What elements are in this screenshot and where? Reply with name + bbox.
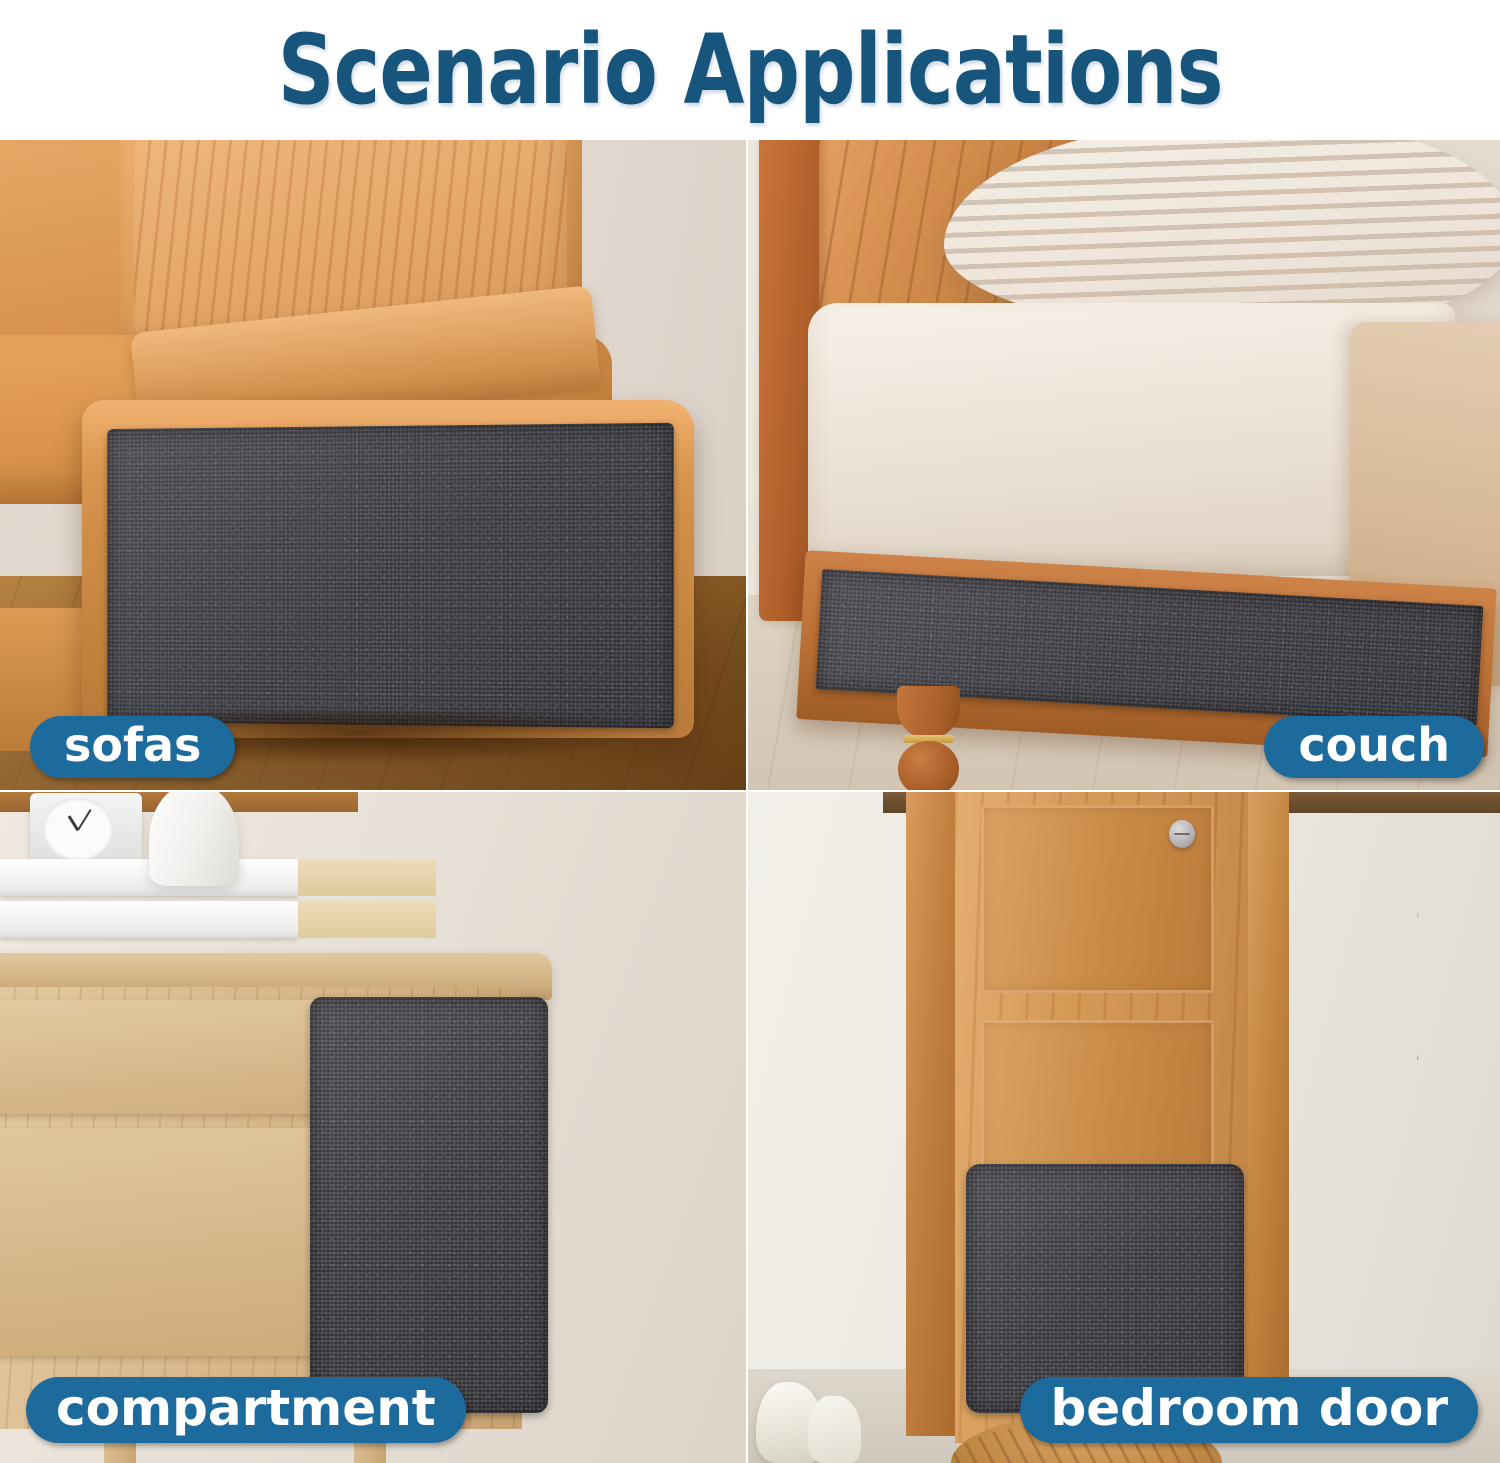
scenario-label-bedroom-door: bedroom door xyxy=(1020,1377,1478,1443)
clock-face xyxy=(43,798,112,861)
scenario-panel-bedroom-door[interactable]: bedroom door xyxy=(748,792,1500,1463)
scenario-label-sofas: sofas xyxy=(30,716,235,778)
door-screw-icon xyxy=(1169,820,1195,848)
scenario-panel-compartment[interactable]: compartment xyxy=(0,792,748,1463)
scenario-label-couch: couch xyxy=(1264,716,1484,778)
page-title-bar: Scenario Applications xyxy=(0,0,1500,140)
page-title: Scenario Applications xyxy=(278,22,1223,118)
scenario-label-sofas-text: sofas xyxy=(64,722,201,768)
clock-minute-hand xyxy=(77,810,91,831)
plant-branch xyxy=(1417,913,1492,1061)
scratch-mat-on-nightstand xyxy=(310,997,549,1413)
scenario-label-compartment: compartment xyxy=(26,1377,466,1443)
scenario-label-couch-text: couch xyxy=(1298,722,1450,768)
striped-pillow xyxy=(944,140,1500,329)
nightstand-drawer-lower xyxy=(0,1128,343,1356)
door-frame-left xyxy=(906,792,959,1436)
scenario-panel-couch[interactable]: couch xyxy=(748,140,1500,792)
scenario-panel-sofas[interactable]: sofas xyxy=(0,140,748,792)
book-pages xyxy=(298,859,435,896)
alarm-clock xyxy=(30,793,142,867)
book-bottom xyxy=(0,901,298,938)
bed-turned-leg xyxy=(891,686,966,792)
bed-leg-upper xyxy=(897,686,960,739)
scratch-mat-on-door xyxy=(966,1164,1244,1412)
nightstand-photo xyxy=(0,792,746,1463)
nightstand-drawer-upper xyxy=(0,1000,343,1114)
door-frame-right xyxy=(1244,792,1289,1443)
scenario-grid: sofas c xyxy=(0,140,1500,1463)
bed-photo xyxy=(748,140,1500,790)
white-vase xyxy=(149,792,239,886)
scenario-label-compartment-text: compartment xyxy=(56,1383,436,1433)
sofa-photo xyxy=(0,140,746,790)
product-scenario-poster: Scenario Applications sofas xyxy=(0,0,1500,1463)
white-sneaker-right xyxy=(808,1396,861,1463)
bed-leg-ball xyxy=(898,741,958,792)
book-pages xyxy=(298,901,435,938)
scratch-mat-on-sofa xyxy=(107,423,673,728)
bedroom-door-photo xyxy=(748,792,1500,1463)
scenario-label-bedroom-door-text: bedroom door xyxy=(1050,1383,1448,1433)
